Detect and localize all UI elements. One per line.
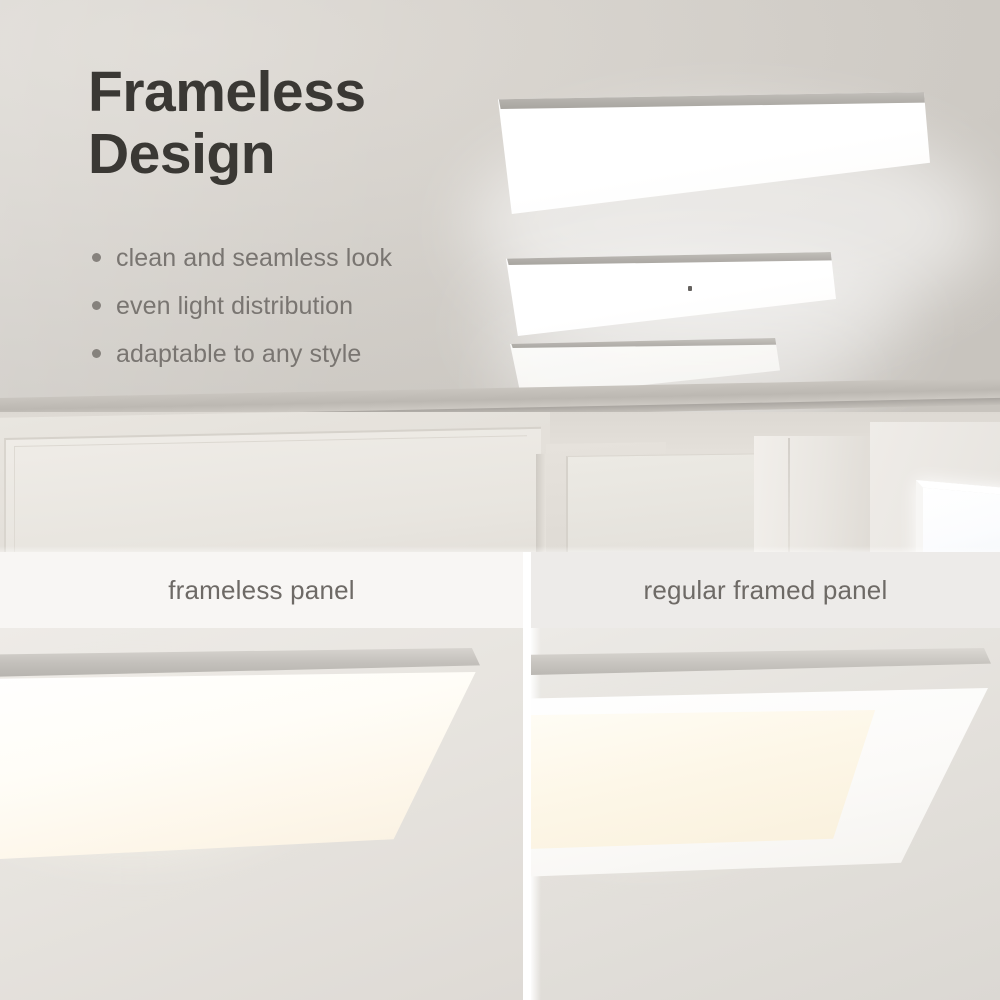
list-item: clean and seamless look <box>92 244 472 273</box>
window <box>916 480 1000 552</box>
comparison-right-label-bar: regular framed panel <box>531 552 1000 628</box>
framed-panel-photo <box>531 628 1000 1000</box>
bullet-dot-icon <box>92 253 101 262</box>
bullet-dot-icon <box>92 349 101 358</box>
comparison-divider <box>523 552 531 1000</box>
framed-panel-light-face <box>531 710 879 850</box>
bullet-dot-icon <box>92 301 101 310</box>
room-lower-area <box>0 412 1000 552</box>
comparison-right: regular framed panel <box>531 552 1000 1000</box>
framed-panel-edge-strip <box>531 648 991 676</box>
door-panel-inner-trim <box>14 435 527 552</box>
feature-label: clean and seamless look <box>116 244 392 273</box>
comparison-strip: frameless panel regular framed panel <box>0 552 1000 1000</box>
frameless-panel-photo <box>0 628 523 1000</box>
panel-sensor-dot <box>688 286 692 291</box>
comparison-left-label: frameless panel <box>168 575 355 606</box>
page-title: Frameless Design <box>88 62 478 185</box>
comparison-left-label-bar: frameless panel <box>0 552 523 628</box>
product-feature-image: Frameless Design clean and seamless look… <box>0 0 1000 1000</box>
wall-corner <box>754 436 872 552</box>
feature-label: even light distribution <box>116 292 353 321</box>
feature-list: clean and seamless look even light distr… <box>92 244 472 388</box>
door-panel-second <box>566 453 758 552</box>
list-item: adaptable to any style <box>92 340 472 369</box>
hero-copy: Frameless Design clean and seamless look… <box>0 0 470 420</box>
frameless-led-panel <box>0 648 480 868</box>
feature-label: adaptable to any style <box>116 340 361 369</box>
door-edge <box>536 454 546 552</box>
list-item: even light distribution <box>92 292 472 321</box>
framed-led-panel <box>531 648 991 878</box>
hero-scene: Frameless Design clean and seamless look… <box>0 0 1000 552</box>
wall-corner-edge <box>788 438 790 552</box>
comparison-left: frameless panel <box>0 552 523 1000</box>
comparison-right-label: regular framed panel <box>644 575 888 606</box>
